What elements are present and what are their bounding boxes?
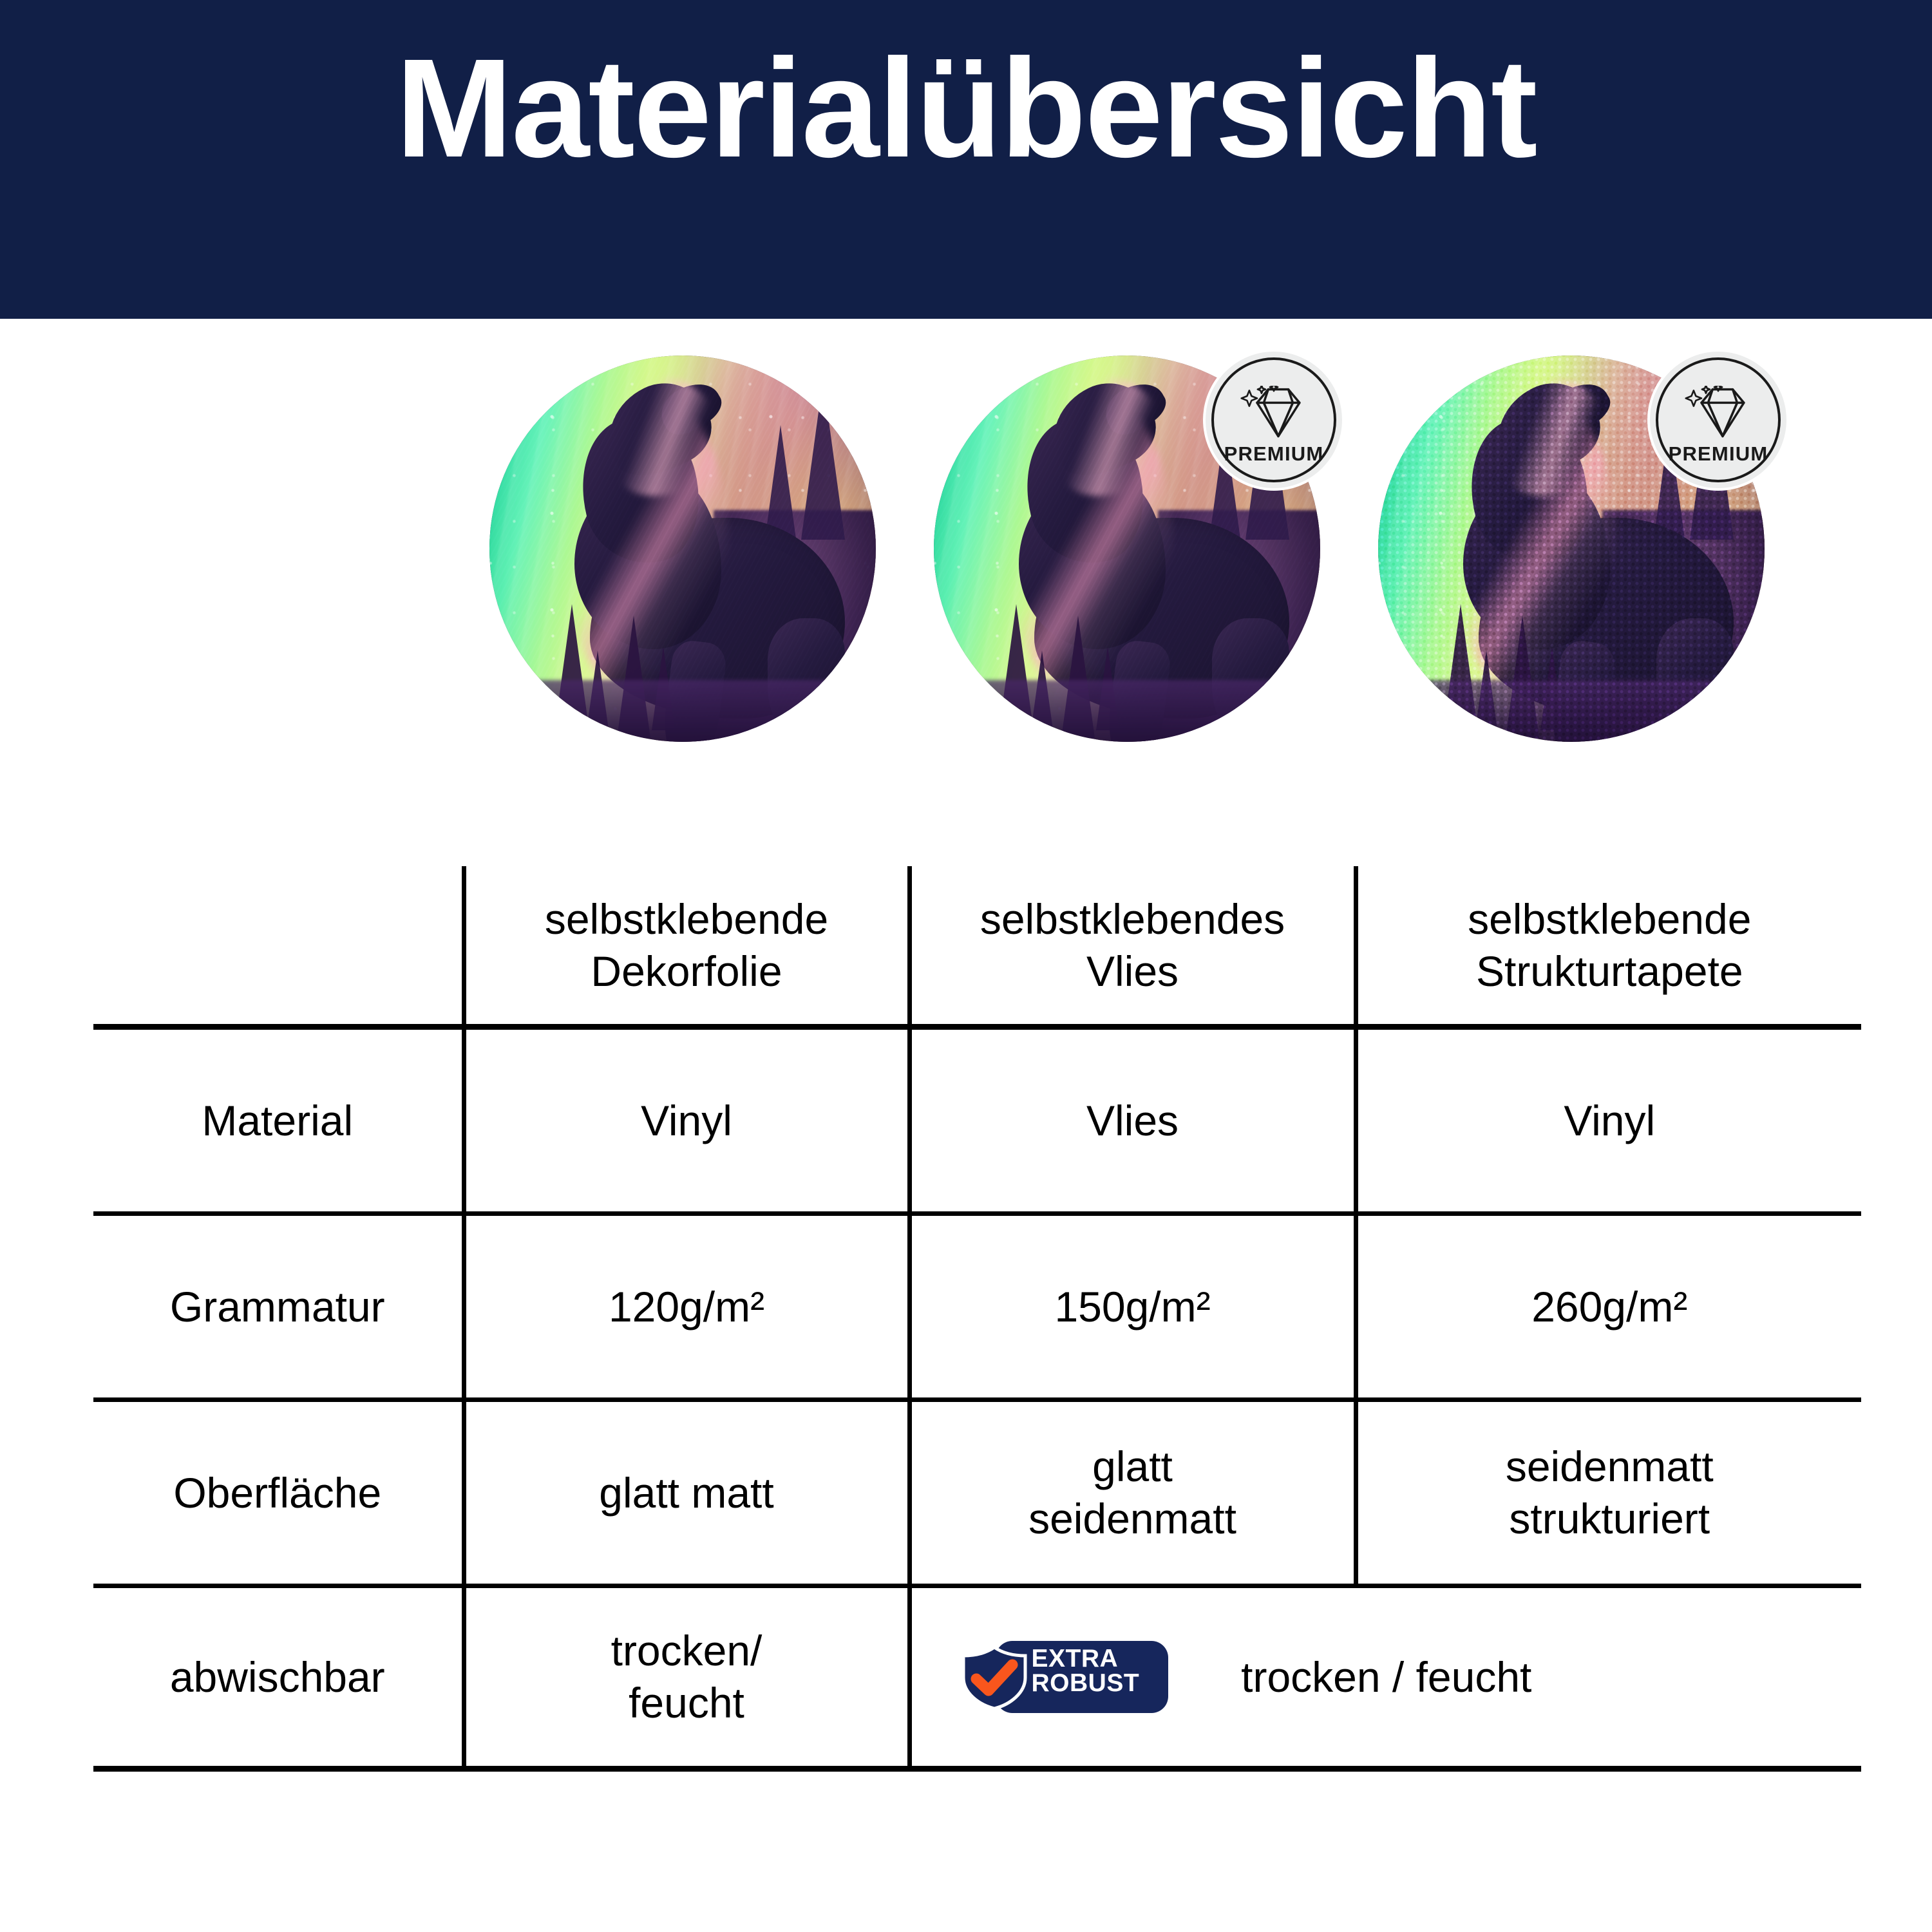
badge-line-1: EXTRA: [1032, 1647, 1140, 1671]
cell-oberflaeche-dekorfolie: glatt matt: [464, 1400, 909, 1586]
header-cell-vlies: selbstklebendes Vlies: [909, 866, 1356, 1027]
badge-line-2: ROBUST: [1032, 1671, 1140, 1696]
value-line-2: feucht: [629, 1679, 744, 1727]
cell-oberflaeche-vlies: glatt seidenmatt: [909, 1400, 1356, 1586]
extra-robust-label: EXTRA ROBUST: [1032, 1647, 1140, 1696]
header-line-1: selbstklebendes: [980, 895, 1285, 943]
row-label-abwischbar: abwischbar: [93, 1586, 464, 1769]
value-line-1: seidenmatt: [1506, 1443, 1714, 1490]
header-line-1: selbstklebende: [545, 895, 828, 943]
value-line-1: glatt matt: [599, 1469, 773, 1517]
header-cell-strukturtapete: selbstklebende Strukturtapete: [1356, 866, 1861, 1027]
shield-check-icon: [960, 1645, 1029, 1710]
header-line-1: selbstklebende: [1468, 895, 1751, 943]
cell-material-strukturtapete: Vinyl: [1356, 1027, 1861, 1214]
diamond-icon: [1240, 386, 1307, 440]
header-line-2: Vlies: [1086, 947, 1179, 995]
header-bar: Materialübersicht: [0, 0, 1932, 319]
value-line-2: seidenmatt: [1028, 1495, 1236, 1542]
table-row: Oberfläche glatt matt glatt seidenmatt s…: [93, 1400, 1861, 1586]
diamond-icon: [1685, 386, 1752, 440]
cell-abwischbar-dekorfolie: trocken/ feucht: [464, 1586, 909, 1769]
cell-grammatur-dekorfolie: 120g/m²: [464, 1214, 909, 1400]
table-row: abwischbar trocken/ feucht: [93, 1586, 1861, 1769]
product-preview-dekorfolie[interactable]: [489, 355, 876, 742]
value-line-1: glatt: [1092, 1443, 1173, 1490]
material-spec-table: selbstklebende Dekorfolie selbstklebende…: [93, 866, 1861, 1772]
header-line-2: Strukturtapete: [1476, 947, 1743, 995]
cell-material-dekorfolie: Vinyl: [464, 1027, 909, 1214]
cell-grammatur-strukturtapete: 260g/m²: [1356, 1214, 1861, 1400]
row-label-material: Material: [93, 1027, 464, 1214]
wolf-aurora-image-1: [489, 355, 876, 742]
row-label-oberflaeche: Oberfläche: [93, 1400, 464, 1586]
value-line-2: strukturiert: [1509, 1495, 1710, 1542]
table-row: Grammatur 120g/m² 150g/m² 260g/m²: [93, 1214, 1861, 1400]
cell-material-vlies: Vlies: [909, 1027, 1356, 1214]
premium-badge: PREMIUM: [1650, 352, 1786, 488]
cell-grammatur-vlies: 150g/m²: [909, 1214, 1356, 1400]
row-label-grammatur: Grammatur: [93, 1214, 464, 1400]
premium-badge-label: PREMIUM: [1669, 442, 1768, 466]
merged-value-text: trocken / feucht: [1241, 1653, 1531, 1701]
page-title: Materialübersicht: [0, 39, 1932, 179]
product-preview-row: PREMIUM: [0, 355, 1932, 755]
premium-badge-label: PREMIUM: [1224, 442, 1324, 466]
table-row: Material Vinyl Vlies Vinyl: [93, 1027, 1861, 1214]
cell-abwischbar-merged: EXTRA ROBUST trocken / feucht: [909, 1586, 1861, 1769]
header-line-2: Dekorfolie: [591, 947, 782, 995]
header-cell-dekorfolie: selbstklebende Dekorfolie: [464, 866, 909, 1027]
extra-robust-badge: EXTRA ROBUST: [956, 1638, 1168, 1716]
premium-badge: PREMIUM: [1206, 352, 1342, 488]
product-preview-strukturtapete[interactable]: PREMIUM: [1378, 355, 1765, 742]
product-preview-vlies[interactable]: PREMIUM: [934, 355, 1320, 742]
value-line-1: trocken/: [611, 1627, 762, 1674]
header-cell-empty: [93, 866, 464, 1027]
cell-oberflaeche-strukturtapete: seidenmatt strukturiert: [1356, 1400, 1861, 1586]
table-header-row: selbstklebende Dekorfolie selbstklebende…: [93, 866, 1861, 1027]
